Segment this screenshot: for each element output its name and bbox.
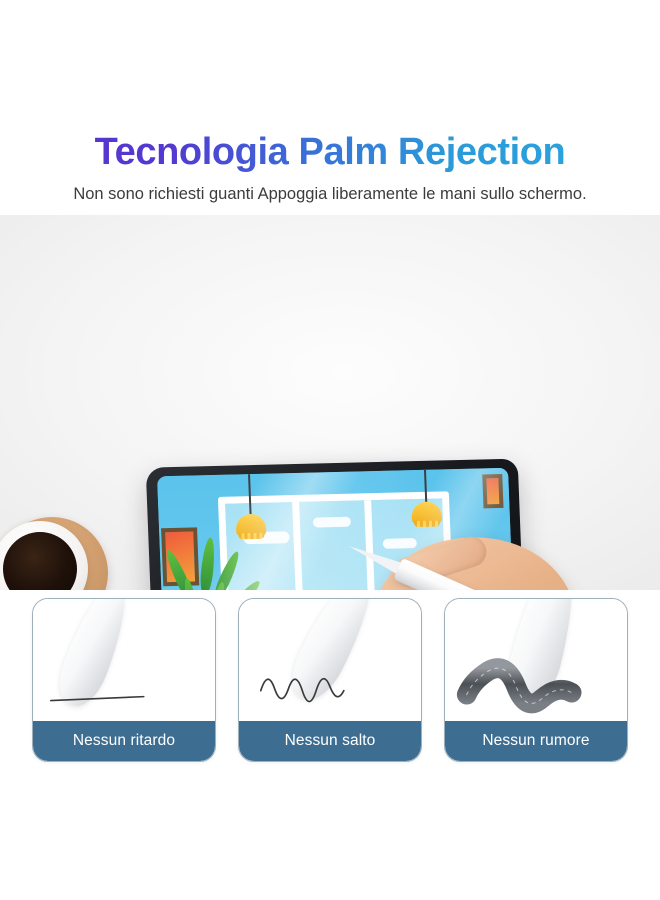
feature-card-no-noise[interactable]: Nessun rumore — [444, 598, 628, 762]
card-label: Nessun ritardo — [33, 721, 215, 761]
palm-leaf — [211, 549, 242, 590]
stroke-wavy-line — [239, 599, 421, 723]
palm-leaf — [182, 577, 202, 590]
hero-product-photo: 06:35 — [0, 215, 660, 590]
page-subtitle: Non sono richiesti guanti Appoggia liber… — [10, 182, 650, 206]
wall-picture-frame — [482, 474, 503, 508]
palm-plant — [166, 536, 249, 590]
window-mullion — [292, 502, 305, 590]
card-artwork — [239, 599, 421, 723]
feature-card-no-delay[interactable]: Nessun ritardo — [32, 598, 216, 762]
card-label: Nessun salto — [239, 721, 421, 761]
stroke-thick-brush — [445, 599, 627, 723]
cloud-icon — [383, 538, 417, 549]
cloud-icon — [312, 517, 350, 528]
card-artwork — [33, 599, 215, 723]
palm-leaf — [199, 537, 217, 590]
card-label: Nessun rumore — [445, 721, 627, 761]
feature-cards: Nessun ritardo Nessun salto — [0, 598, 660, 778]
stroke-straight-line — [33, 599, 215, 723]
feature-card-no-jump[interactable]: Nessun salto — [238, 598, 422, 762]
header-section: Tecnologia Palm Rejection Non sono richi… — [0, 0, 660, 215]
page-title: Tecnologia Palm Rejection — [0, 130, 660, 174]
window-mullion — [364, 500, 377, 590]
card-artwork — [445, 599, 627, 723]
